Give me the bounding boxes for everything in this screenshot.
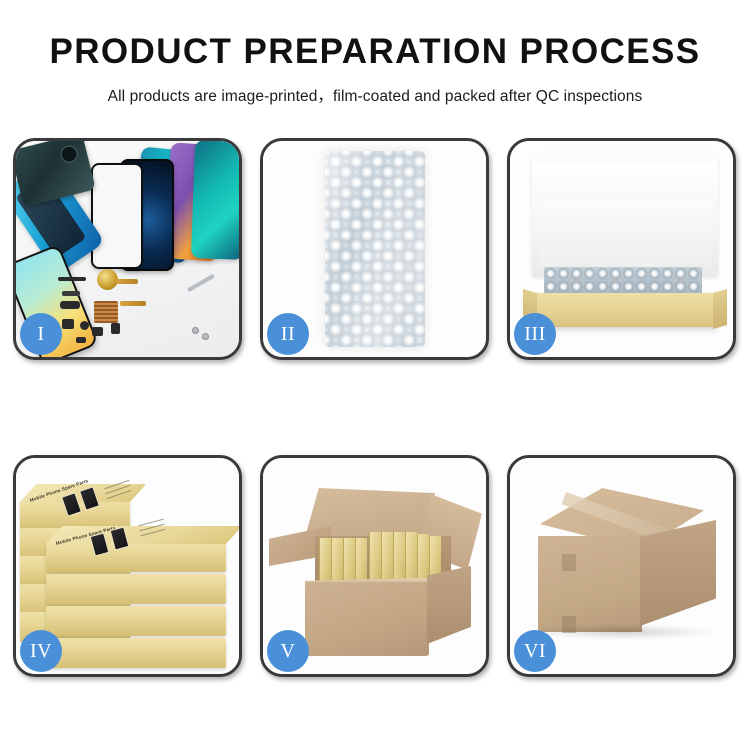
bubble-wrapped-package bbox=[325, 151, 425, 347]
flex-cable-top bbox=[116, 279, 138, 284]
step-badge-3: III bbox=[514, 313, 556, 355]
vibrator-part bbox=[111, 323, 120, 334]
plastic-sheen bbox=[325, 151, 425, 347]
sealed-carton-front-face bbox=[538, 536, 642, 632]
screw-part-2 bbox=[202, 333, 209, 340]
step-badge-4: IV bbox=[20, 630, 62, 672]
kraft-box-base bbox=[532, 293, 718, 327]
phone-back-teal bbox=[191, 141, 239, 260]
connector-part-a bbox=[60, 301, 80, 309]
step-badge-5: V bbox=[267, 630, 309, 672]
step-panel-sealed-carton: VI bbox=[507, 455, 736, 677]
sim-tray-part bbox=[76, 337, 86, 343]
step-panel-inner-box: III bbox=[507, 138, 736, 360]
button-part bbox=[80, 321, 89, 330]
sealed-carton-side-face bbox=[640, 520, 716, 626]
step-panel-phone-parts: I bbox=[13, 138, 242, 360]
page-header: PRODUCT PREPARATION PROCESS All products… bbox=[0, 0, 750, 106]
stacked-box-front-3 bbox=[46, 606, 226, 636]
phone-back-housing bbox=[16, 141, 96, 207]
screw-part-1 bbox=[192, 327, 199, 334]
flex-cable-left bbox=[62, 291, 80, 296]
step-panel-boxed-stack: Mobile Phone Spare Parts Mobile Phone Sp… bbox=[13, 455, 242, 677]
step-panel-open-carton: V bbox=[260, 455, 489, 677]
step-panel-bubble-wrap: II bbox=[260, 138, 489, 360]
step-badge-6: VI bbox=[514, 630, 556, 672]
connector-part-b bbox=[62, 319, 74, 329]
stacked-box-front-4 bbox=[46, 638, 226, 668]
stacked-box-front-2 bbox=[46, 574, 226, 604]
carton-side-face bbox=[427, 566, 471, 644]
step-badge-1: I bbox=[20, 313, 62, 355]
stacked-box-front-1 bbox=[46, 542, 226, 572]
foam-insert bbox=[538, 199, 712, 267]
carton-handle-tab-top bbox=[562, 554, 576, 571]
page-title: PRODUCT PREPARATION PROCESS bbox=[0, 34, 750, 71]
page-subtitle: All products are image-printed，film-coat… bbox=[0, 84, 750, 106]
step-badge-2: II bbox=[267, 313, 309, 355]
flex-cable-mid bbox=[120, 301, 146, 306]
process-step-grid: I II III bbox=[13, 138, 737, 677]
carton-ground-shadow bbox=[528, 624, 718, 640]
wireless-coil-part bbox=[97, 269, 118, 290]
tweezers-tool bbox=[187, 274, 215, 292]
carton-front-face bbox=[305, 582, 429, 656]
earpiece-mesh-part bbox=[58, 277, 86, 281]
speaker-part bbox=[92, 327, 103, 336]
camera-module-icon bbox=[59, 144, 80, 165]
phone-glass-panel bbox=[91, 163, 143, 269]
copper-grid-chip bbox=[94, 301, 118, 323]
